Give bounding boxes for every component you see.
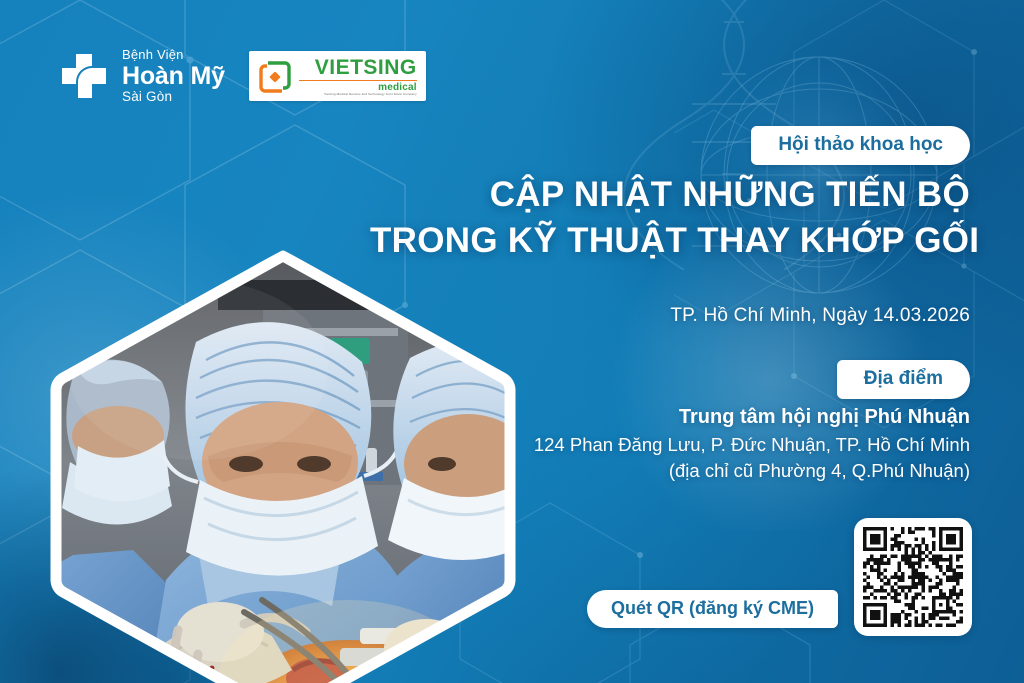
event-date: TP. Hồ Chí Minh, Ngày 14.03.2026: [370, 305, 970, 327]
venue-name: Trung tâm hội nghị Phú Nhuận: [350, 403, 970, 432]
qr-code-icon: [863, 527, 963, 627]
vietsing-tagline: Vietsing Medical Devices and Technology …: [324, 93, 417, 96]
vietsing-rule: [299, 80, 417, 81]
logo-row: Bệnh Viện Hoàn Mỹ Sài Gòn VIETSING medic…: [58, 48, 426, 104]
page-title: CẬP NHẬT NHỮNG TIẾN BỘ TRONG KỸ THUẬT TH…: [370, 172, 970, 264]
vietsing-name: VIETSING: [315, 57, 417, 78]
venue-address-note: (địa chỉ cũ Phường 4, Q.Phú Nhuận): [350, 458, 970, 484]
medical-cross-icon: [58, 50, 110, 102]
eyebrow-badge: Hội thảo khoa học: [751, 126, 970, 165]
venue-details: Trung tâm hội nghị Phú Nhuận 124 Phan Đă…: [350, 403, 970, 485]
vietsing-diamond-icon: [258, 60, 292, 94]
hospital-line-2: Hoàn Mỹ: [122, 63, 225, 89]
hospital-line-3: Sài Gòn: [122, 90, 225, 104]
title-line-1: CẬP NHẬT NHỮNG TIẾN BỘ: [370, 172, 970, 218]
venue-address: 124 Phan Đăng Lưu, P. Đức Nhuận, TP. Hồ …: [350, 432, 970, 458]
hoan-my-hospital-logo: Bệnh Viện Hoàn Mỹ Sài Gòn: [58, 48, 225, 104]
qr-code[interactable]: [854, 518, 972, 636]
hospital-line-1: Bệnh Viện: [122, 48, 225, 62]
qr-label-badge: Quét QR (đăng ký CME): [587, 590, 838, 628]
title-line-2: TRONG KỸ THUẬT THAY KHỚP GỐI: [370, 218, 970, 264]
venue-badge: Địa điểm: [837, 360, 970, 399]
conference-banner: Bệnh Viện Hoàn Mỹ Sài Gòn VIETSING medic…: [0, 0, 1024, 683]
vietsing-medical-logo: VIETSING medical Vietsing Medical Device…: [249, 51, 426, 100]
